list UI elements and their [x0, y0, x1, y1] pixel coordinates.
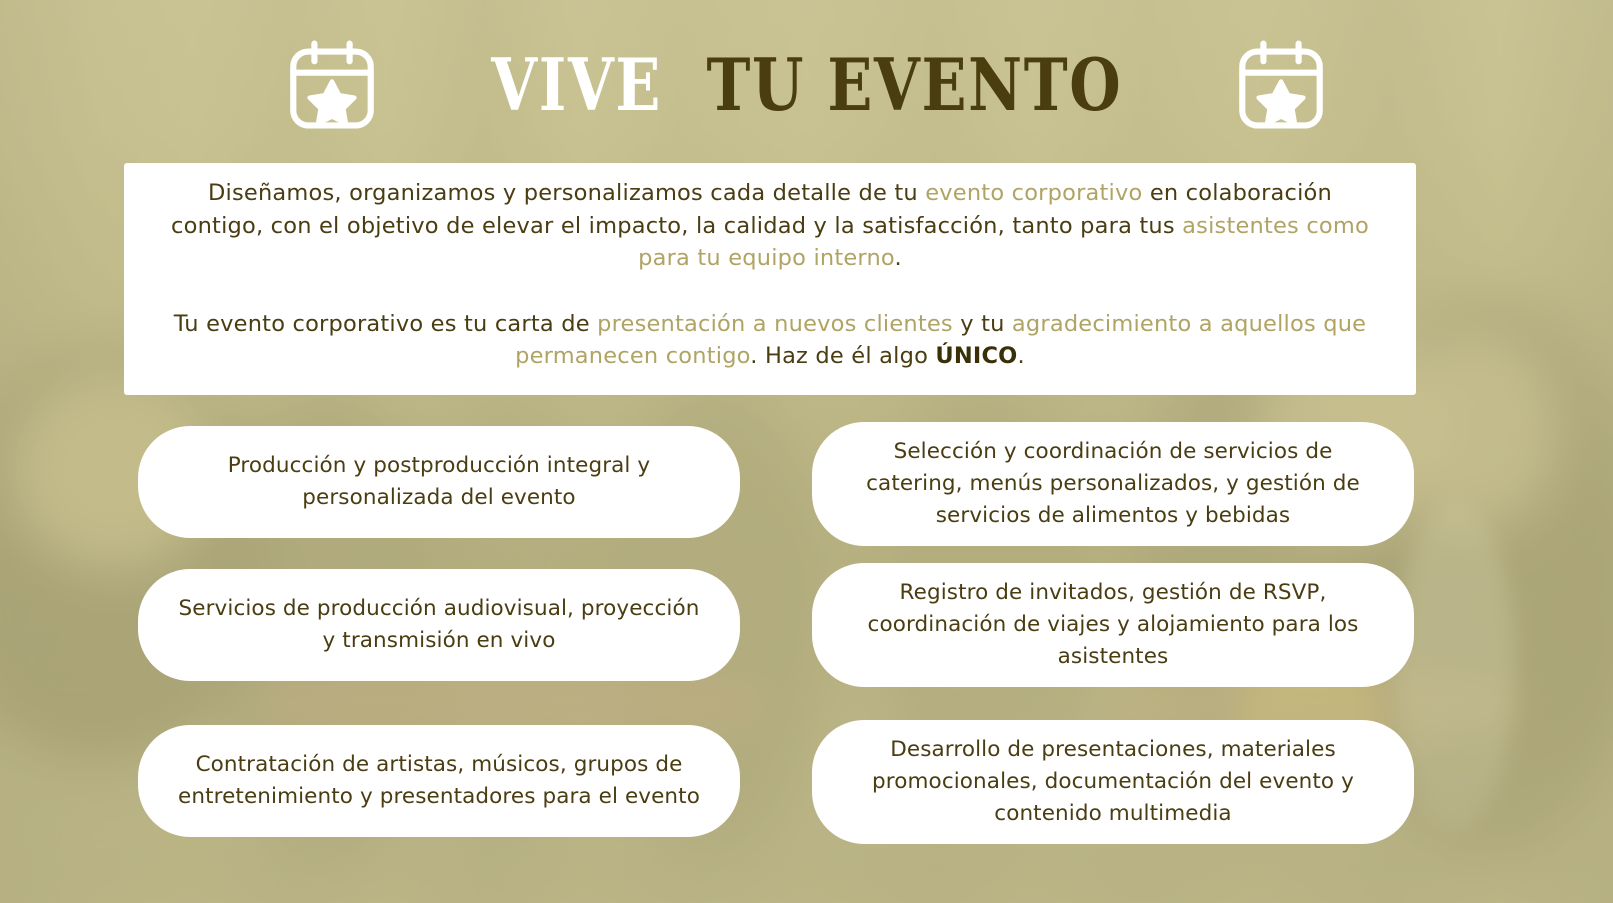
service-card[interactable]: Servicios de producción audiovisual, pro… — [138, 569, 740, 681]
calendar-star-icon — [1237, 39, 1325, 131]
service-card-text: Desarrollo de presentaciones, materiales… — [846, 734, 1380, 830]
intro-p2-seg4: . — [1018, 343, 1025, 369]
service-card[interactable]: Desarrollo de presentaciones, materiales… — [812, 720, 1414, 844]
intro-p2-seg3: . Haz de él algo — [750, 343, 935, 369]
title-word-vive: VIVE — [491, 42, 662, 127]
intro-panel: Diseñamos, organizamos y personalizamos … — [124, 163, 1416, 395]
service-cards: Producción y postproducción integral y p… — [0, 424, 1613, 844]
slide-root: VIVE TU EVENTO Diseñamos, organizamos y … — [0, 0, 1613, 903]
service-card[interactable]: Producción y postproducción integral y p… — [138, 426, 740, 538]
intro-p2-seg1: Tu evento corporativo es tu carta de — [174, 311, 597, 337]
intro-p1-seg1: Diseñamos, organizamos y personalizamos … — [208, 180, 925, 206]
title-word-tu-evento: TU EVENTO — [706, 42, 1122, 127]
service-card-text: Producción y postproducción integral y p… — [172, 450, 706, 514]
intro-paragraph-2: Tu evento corporativo es tu carta de pre… — [164, 308, 1376, 373]
service-card[interactable]: Selección y coordinación de servicios de… — [812, 422, 1414, 546]
header: VIVE TU EVENTO — [0, 30, 1613, 140]
intro-p2-bold-unico: ÚNICO — [935, 343, 1017, 369]
service-card[interactable]: Contratación de artistas, músicos, grupo… — [138, 725, 740, 837]
service-card-text: Contratación de artistas, músicos, grupo… — [172, 749, 706, 813]
intro-paragraph-1: Diseñamos, organizamos y personalizamos … — [164, 177, 1376, 275]
slide-content: VIVE TU EVENTO Diseñamos, organizamos y … — [0, 0, 1613, 903]
service-card-text: Servicios de producción audiovisual, pro… — [172, 593, 706, 657]
intro-p1-highlight1: evento corporativo — [925, 180, 1142, 206]
service-card-text: Selección y coordinación de servicios de… — [846, 436, 1380, 532]
calendar-star-icon — [288, 39, 376, 131]
page-title: VIVE TU EVENTO — [491, 49, 1122, 121]
intro-p2-seg2: y tu — [953, 311, 1012, 337]
intro-p1-seg3: . — [895, 245, 902, 271]
intro-p2-highlight1: presentación a nuevos clientes — [597, 311, 953, 337]
service-card[interactable]: Registro de invitados, gestión de RSVP, … — [812, 563, 1414, 687]
service-card-text: Registro de invitados, gestión de RSVP, … — [846, 577, 1380, 673]
